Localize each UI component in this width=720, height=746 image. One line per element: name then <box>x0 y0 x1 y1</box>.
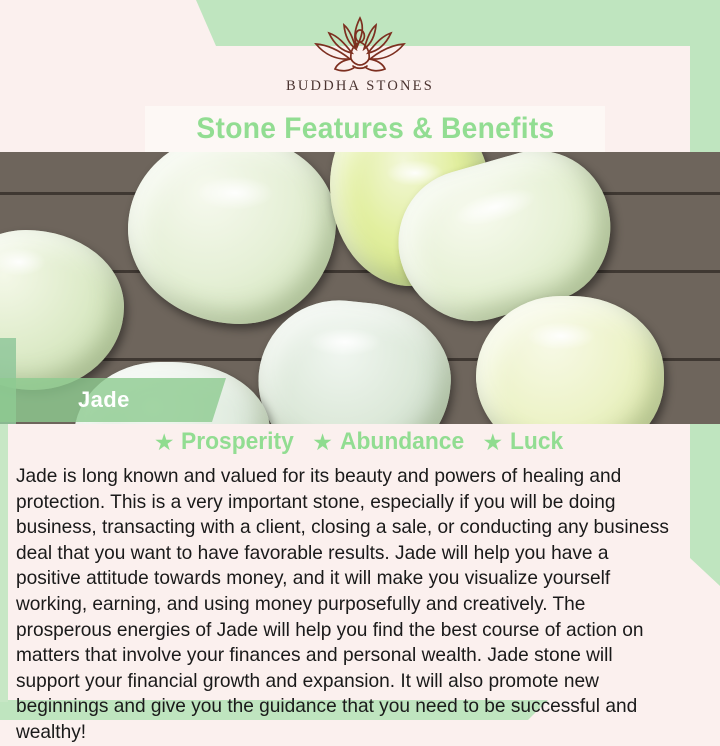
brand-name: BUDDHA STONES <box>286 78 434 95</box>
page-title: Stone Features & Benefits <box>196 112 554 146</box>
brand-logo: BUDDHA STONES <box>286 14 434 95</box>
benefit-item-luck: ★ Luck <box>483 428 567 456</box>
benefit-item-abundance: ★ Abundance <box>312 428 470 456</box>
star-icon: ★ <box>312 431 333 454</box>
description-text: Jade is long known and valued for its be… <box>16 464 672 746</box>
benefit-item-prosperity: ★ Prosperity <box>154 428 300 456</box>
frame-left-strip <box>0 424 8 702</box>
page-title-banner: Stone Features & Benefits <box>145 106 605 152</box>
lotus-meditation-icon <box>295 14 425 76</box>
star-icon: ★ <box>483 431 504 454</box>
benefit-label: Prosperity <box>181 428 294 456</box>
benefits-row: ★ Prosperity ★ Abundance ★ Luck <box>0 428 720 456</box>
star-icon: ★ <box>154 431 175 454</box>
benefit-label: Abundance <box>340 428 464 456</box>
description-block: Jade is long known and valued for its be… <box>8 458 694 746</box>
benefit-label: Luck <box>510 428 563 456</box>
stone-name-tag: Jade <box>0 378 226 422</box>
stone-name-label: Jade <box>0 387 130 413</box>
